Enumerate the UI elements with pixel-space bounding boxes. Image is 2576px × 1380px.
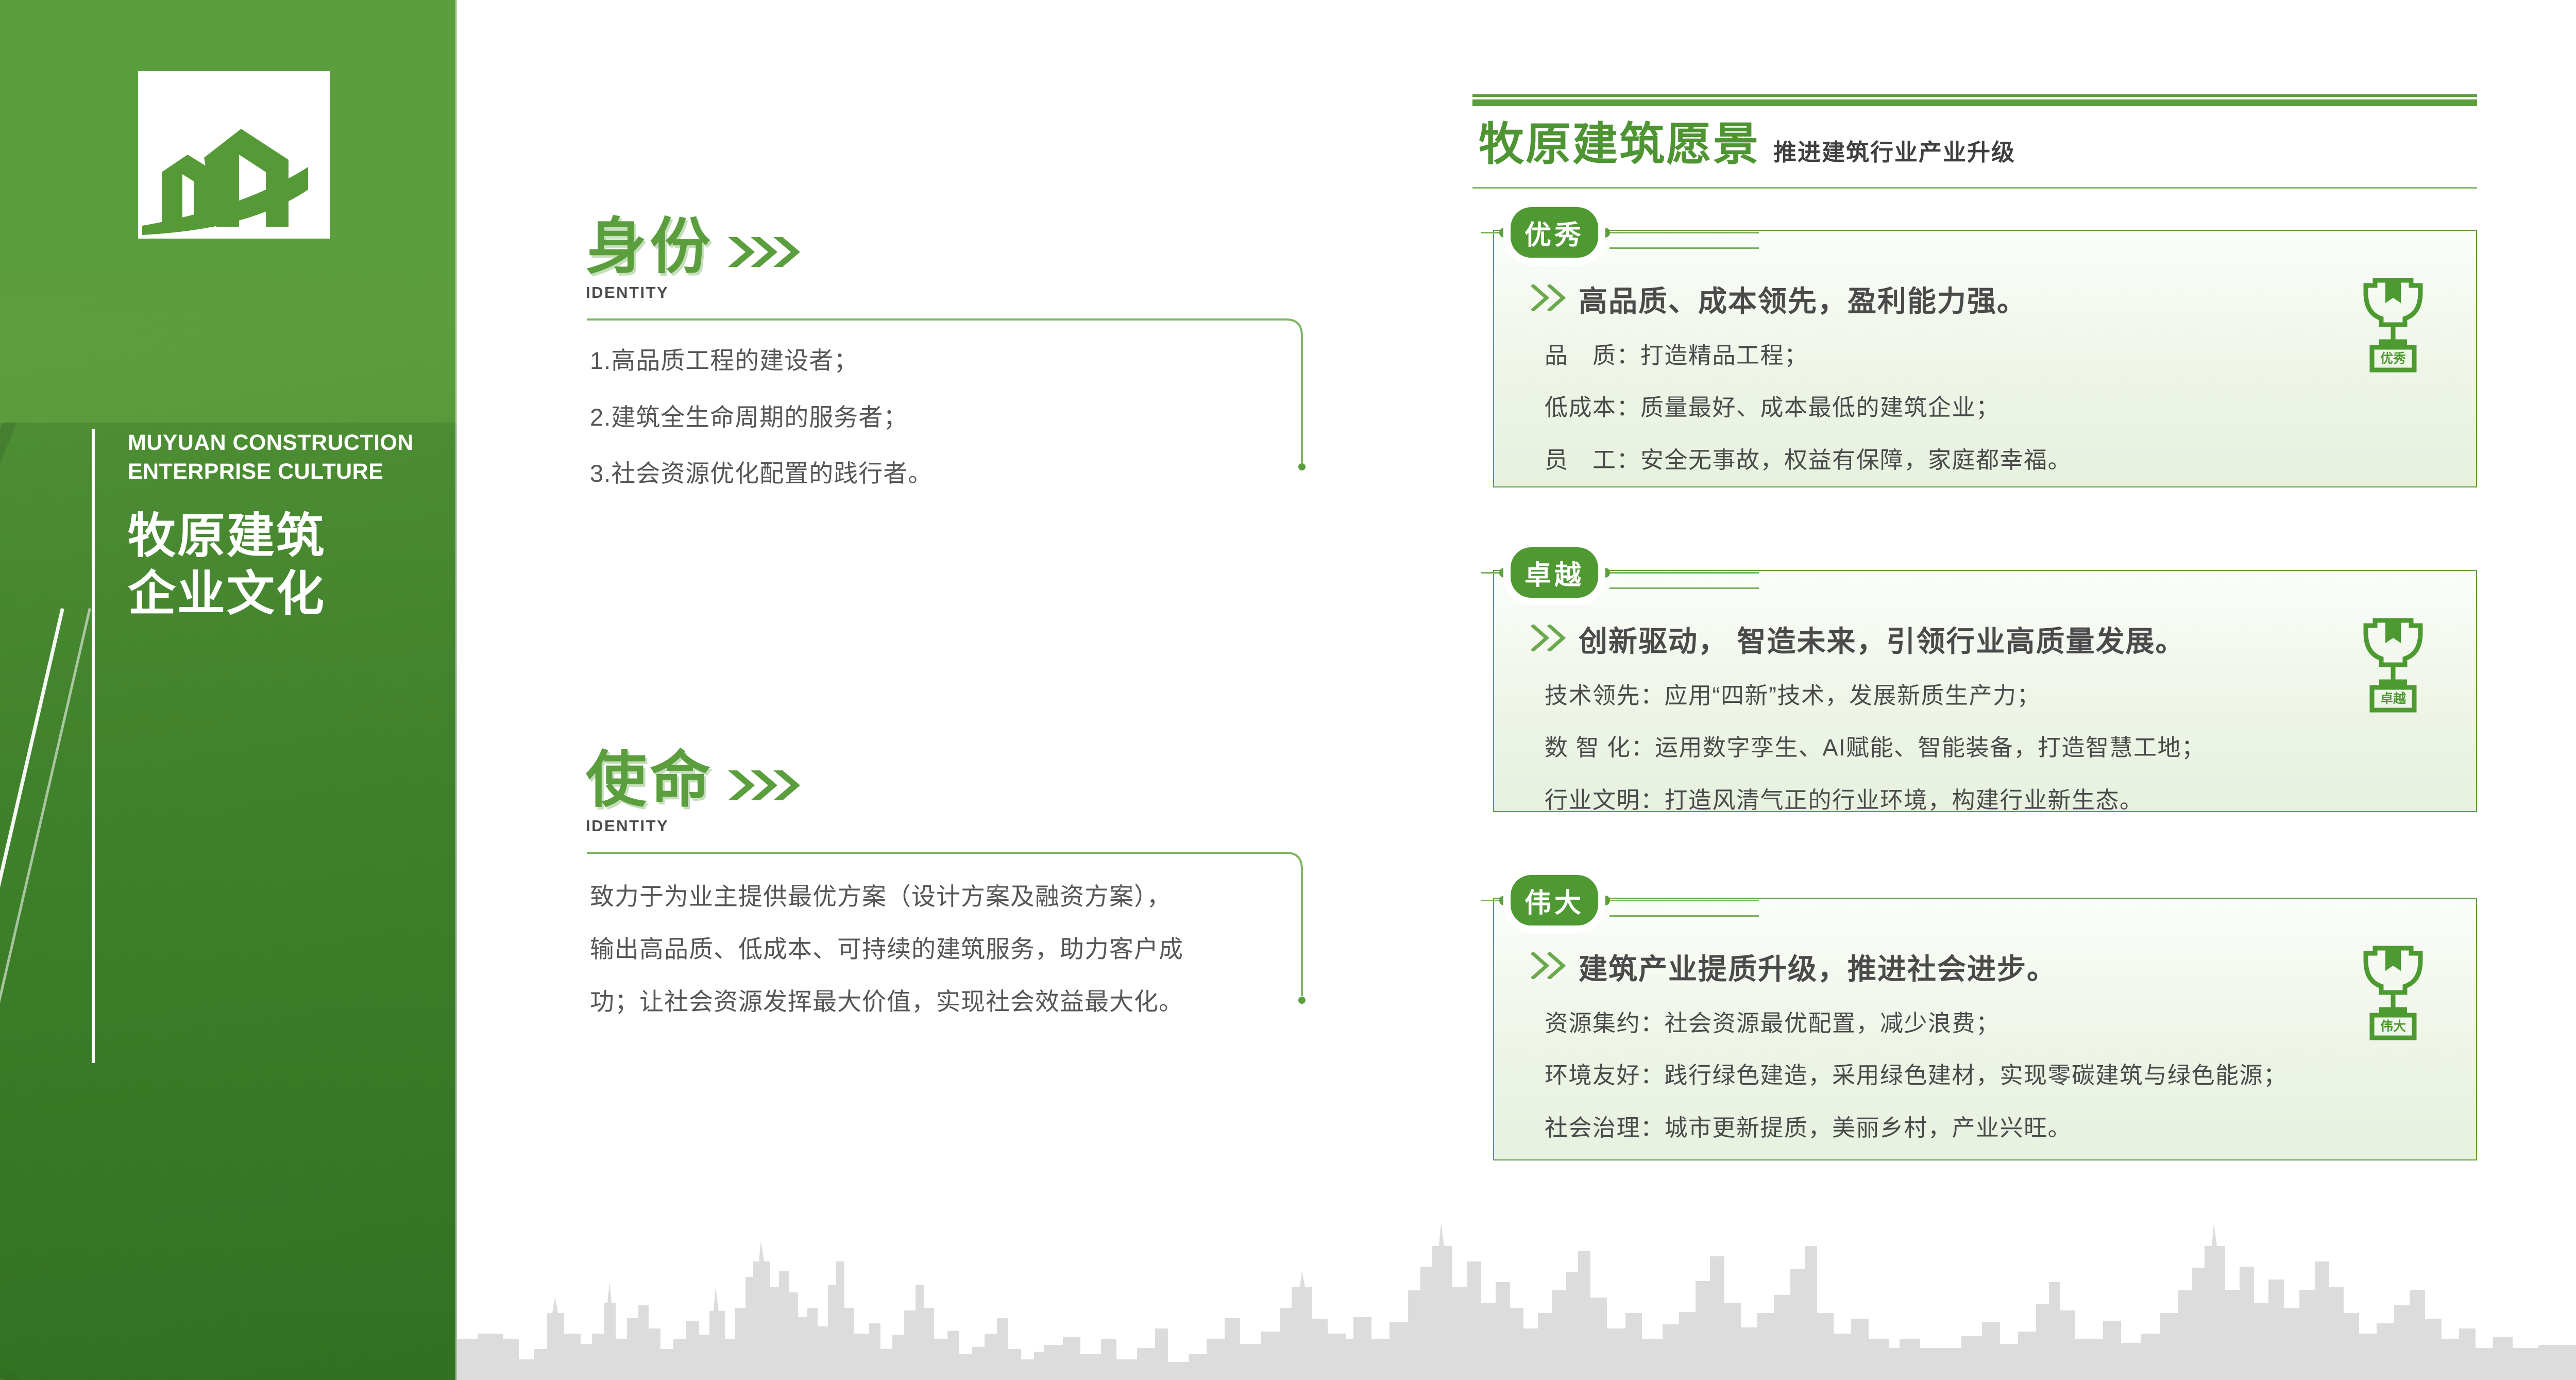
card-detail-2-3: 行业文明：打造风清气正的行业环境，构建行业新生态。 [1531,783,2455,818]
sidebar: MUYUAN CONSTRUCTION ENTERPRISE CULTURE 牧… [0,0,457,1380]
card-badge-3: 伟大 [1511,875,1598,925]
trophy-label-2: 卓越 [2380,692,2406,706]
badge-dot-right [1600,896,1610,905]
sidebar-chinese-line-2: 企业文化 [128,565,437,623]
sidebar-chinese-line-1: 牧原建筑 [128,508,437,565]
identity-line-3: 3.社会资源优化配置的践行者。 [590,452,1307,495]
vision-title: 牧原建筑愿景 [1479,122,1760,167]
badge-dot-left [1499,228,1509,238]
double-chevron-right-icon [1531,280,1569,314]
mission-title-en: IDENTITY [586,817,1307,835]
identity-block: 身份 IDENTITY 1.高品质工程的建设者； 2.建筑全生 [586,216,1307,495]
card-lead-3: 建筑产业提质升级，推进社会进步。 [1579,951,2057,988]
card-detail-3-2: 环境友好：践行绿色建造，采用绿色建材，实现零碳建筑与绿色能源； [1531,1058,2455,1093]
sidebar-vertical-rule [92,429,95,1063]
vision-card-great[interactable]: 伟大 建筑产业提质升级，推进社会进步。 资源集约：社会资源最优配置，减少浪费； … [1493,898,2477,1160]
mission-lines: 致力于为业主提供最优方案（设计方案及融资方案）， 输出高品质、低成本、可持续的建… [586,851,1307,1026]
trophy-label-1: 优秀 [2380,351,2406,366]
badge-connector-line-secondary [1609,247,1759,249]
muyuan-building-logo-icon [138,71,330,239]
badge-dot-right [1600,228,1610,238]
identity-title-row: 身份 [586,216,1307,277]
poster-canvas: MUYUAN CONSTRUCTION ENTERPRISE CULTURE 牧… [0,0,2576,1380]
triple-chevron-right-icon [727,235,804,277]
sidebar-english-title: MUYUAN CONSTRUCTION ENTERPRISE CULTURE [128,429,437,486]
sidebar-chinese-title: 牧原建筑 企业文化 [128,508,437,622]
card-detail-1-3: 员 工：安全无事故，权益有保障，家庭都幸福。 [1531,443,2455,478]
identity-bracket: 1.高品质工程的建设者； 2.建筑全生命周期的服务者； 3.社会资源优化配置的践… [586,317,1307,495]
mission-block: 使命 IDENTITY 致力于为业主提供最优方案（设计方案及融资方案）， [586,750,1307,1030]
vision-header-underline [1472,187,2477,189]
mission-line-1: 致力于为业主提供最优方案（设计方案及融资方案）， [590,872,1307,921]
identity-title-zh: 身份 [586,216,714,277]
card-detail-2-1: 技术领先：应用“四新”技术，发展新质生产力； [1531,678,2455,713]
card-detail-2-2: 数 智 化：运用数字孪生、AI赋能、智能装备，打造智慧工地； [1531,730,2455,765]
mission-line-3: 功；让社会资源发挥最大价值，实现社会效益最大化。 [590,978,1307,1026]
mission-line-2: 输出高品质、低成本、可持续的建筑服务，助力客户成 [590,925,1307,973]
sidebar-english-line-2: ENTERPRISE CULTURE [128,458,437,486]
sidebar-english-line-1: MUYUAN CONSTRUCTION [128,429,437,458]
mission-title-row: 使命 [586,750,1307,811]
vision-card-outstanding[interactable]: 卓越 创新驱动， 智造未来，引领行业高质量发展。 技术领先：应用“四新”技术，发… [1493,570,2477,812]
card-lead-1: 高品质、成本领先，盈利能力强。 [1579,283,2027,321]
card-badge-1: 优秀 [1511,207,1598,258]
vision-card-excellent[interactable]: 优秀 高品质、成本领先，盈利能力强。 品 质：打造精品工程； 低成本：质量最好、… [1493,230,2477,487]
card-detail-1-2: 低成本：质量最好、成本最低的建筑企业； [1531,390,2455,425]
vision-header: 牧原建筑愿景 推进建筑行业产业升级 [1479,122,2015,167]
badge-connector-line-secondary [1609,587,1759,589]
card-badge-group-1: 优秀 [1481,208,1759,262]
vision-subtitle: 推进建筑行业产业升级 [1773,141,2015,167]
trophy-icon: 卓越 [2354,615,2432,713]
badge-dot-left [1499,568,1509,578]
card-lead-row-1: 高品质、成本领先，盈利能力强。 [1531,280,2455,321]
vision-header-rule-thin [1472,94,2477,97]
badge-dot-right [1600,568,1610,578]
card-badge-2: 卓越 [1511,547,1598,598]
vision-panel: 牧原建筑愿景 推进建筑行业产业升级 优秀 [1468,0,2494,1380]
badge-dot-left [1499,896,1509,905]
card-lead-row-2: 创新驱动， 智造未来，引领行业高质量发展。 [1531,620,2455,661]
identity-line-1: 1.高品质工程的建设者； [590,339,1307,382]
trophy-icon: 伟大 [2354,943,2432,1041]
card-badge-group-2: 卓越 [1481,548,1759,602]
vision-header-rule-thick [1472,99,2477,106]
double-chevron-right-icon [1531,620,1569,654]
card-detail-3-1: 资源集约：社会资源最优配置，减少浪费； [1531,1006,2455,1041]
mission-title-zh: 使命 [586,750,714,811]
trophy-label-3: 伟大 [2380,1019,2406,1034]
identity-title-en: IDENTITY [586,283,1307,302]
card-detail-1-1: 品 质：打造精品工程； [1531,338,2455,373]
logo [138,71,330,239]
card-badge-group-3: 伟大 [1481,876,1759,930]
double-chevron-right-icon [1531,948,1569,982]
card-lead-row-3: 建筑产业提质升级，推进社会进步。 [1531,948,2455,988]
trophy-icon: 优秀 [2354,275,2432,373]
card-lead-2: 创新驱动， 智造未来，引领行业高质量发展。 [1579,623,2185,661]
card-detail-3-3: 社会治理：城市更新提质，美丽乡村，产业兴旺。 [1531,1110,2455,1146]
identity-line-2: 2.建筑全生命周期的服务者； [590,396,1307,439]
identity-lines: 1.高品质工程的建设者； 2.建筑全生命周期的服务者； 3.社会资源优化配置的践… [586,317,1307,495]
middle-column: 身份 IDENTITY 1.高品质工程的建设者； 2.建筑全生 [457,0,1343,1380]
mission-bracket: 致力于为业主提供最优方案（设计方案及融资方案）， 输出高品质、低成本、可持续的建… [586,851,1307,1026]
triple-chevron-right-icon [727,768,804,811]
badge-connector-line-secondary [1609,915,1759,917]
